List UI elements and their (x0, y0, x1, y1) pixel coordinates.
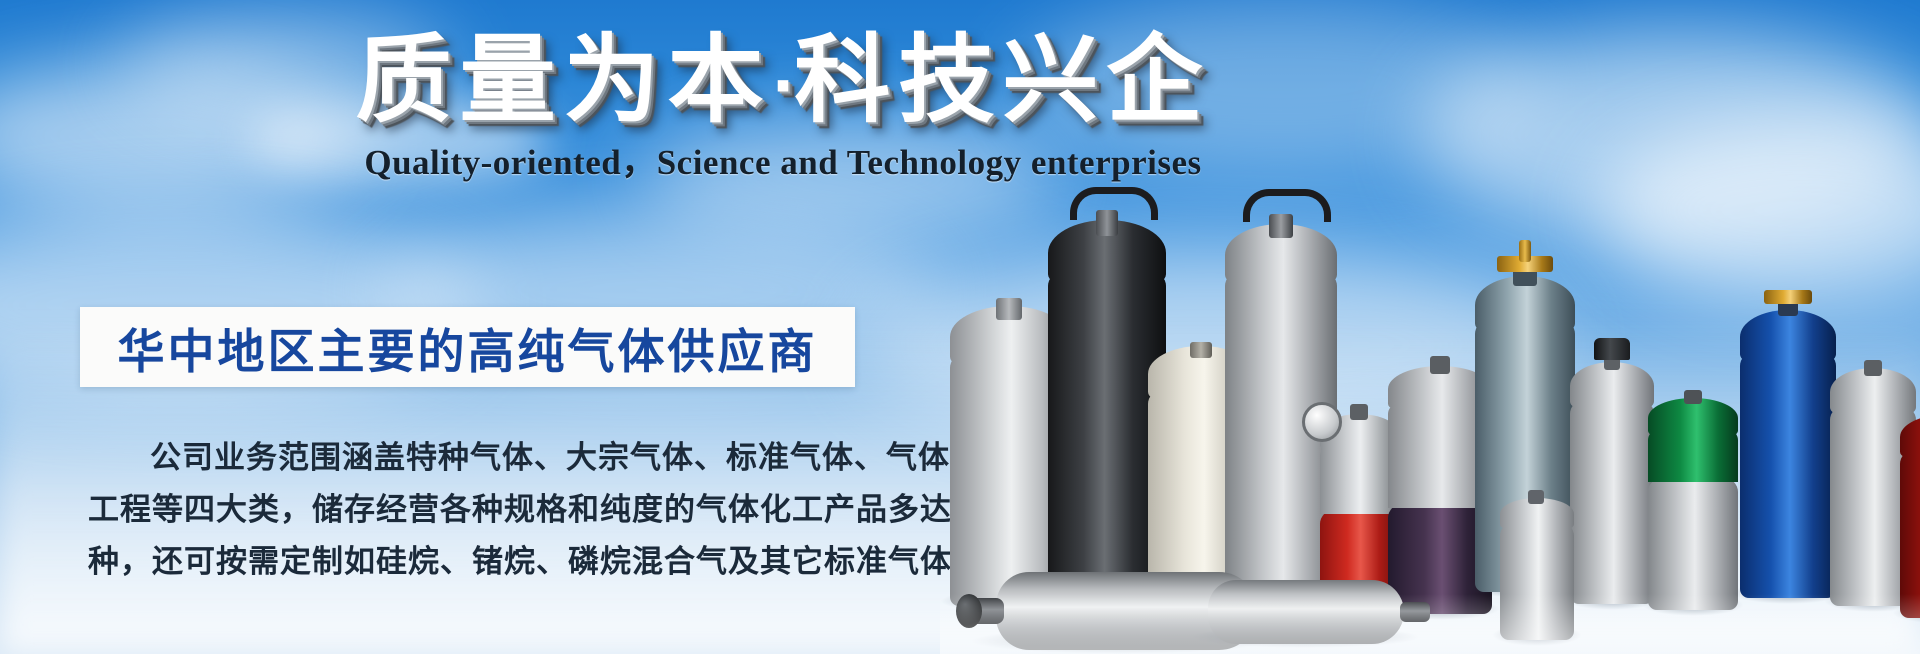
brass-valve-icon (1764, 290, 1812, 304)
cylinder-red-small (1320, 402, 1398, 610)
paragraph-line: 种，还可按需定制如硅烷、锗烷、磷烷混合气及其它标准气体。 (88, 536, 878, 588)
cloud-shape (0, 60, 360, 210)
paragraph-line: 公司业务范围涵盖特种气体、大宗气体、标准气体、气体管道 (88, 432, 878, 484)
tagline-callout-box: 华中地区主要的高纯气体供应商 (80, 307, 855, 387)
headline-separator-dot: · (772, 52, 795, 122)
cylinder-silver-slim (1570, 354, 1654, 604)
pressure-gauge-icon (1302, 402, 1342, 442)
headline-right: 科技兴企 (794, 24, 1210, 136)
page-title: 质量为本·科技兴企 (318, 24, 1248, 143)
brass-valve-stem (1519, 240, 1531, 262)
cylinder-blue (1740, 288, 1836, 598)
cylinder-handle-icon (1243, 189, 1331, 222)
gas-cylinder-product-image (940, 150, 1920, 654)
description-paragraph: 公司业务范围涵盖特种气体、大宗气体、标准气体、气体管道 工程等四大类，储存经营各… (88, 432, 878, 588)
ground-reflection (940, 594, 1920, 654)
cylinder-green-top (1648, 384, 1738, 610)
cylinder-handle-icon (1070, 187, 1158, 220)
promo-banner: 质量为本·科技兴企 Quality-oriented，Science and T… (0, 0, 1920, 654)
cylinder-dark-red (1900, 406, 1920, 618)
tagline-text: 华中地区主要的高纯气体供应商 (118, 313, 818, 382)
paragraph-line: 工程等四大类，储存经营各种规格和纯度的气体化工产品多达上百 (88, 484, 878, 536)
headline-left: 质量为本 (356, 24, 772, 136)
cylinder-black-cap (1594, 338, 1630, 360)
